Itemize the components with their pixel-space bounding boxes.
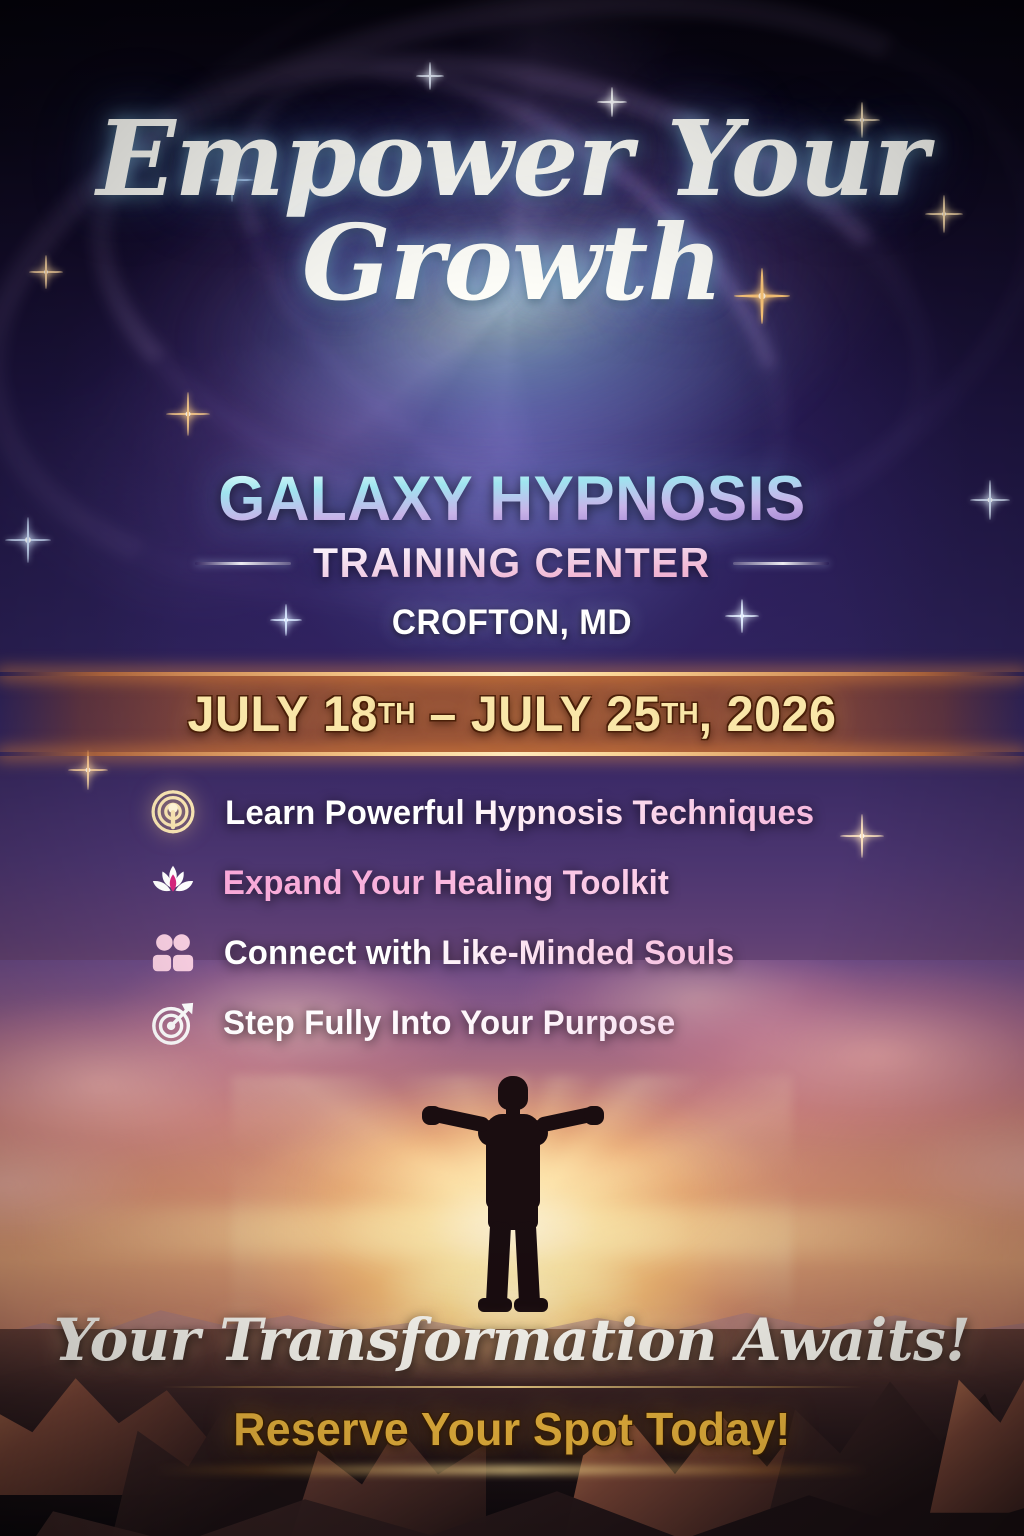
lotus-flower-icon bbox=[150, 860, 196, 906]
benefit-label: Expand Your Healing Toolkit bbox=[223, 864, 669, 903]
brand-subtitle-row: TRAINING CENTER bbox=[0, 539, 1024, 587]
date-year: 2026 bbox=[727, 685, 837, 743]
benefit-label: Step Fully Into Your Purpose bbox=[223, 1004, 675, 1043]
people-group-icon bbox=[150, 930, 196, 976]
headline-block: Empower Your Growth bbox=[0, 108, 1024, 314]
date-end-month: JULY bbox=[471, 685, 592, 743]
cta-divider-rule bbox=[162, 1386, 862, 1388]
date-banner: JULY 18TH – JULY 25TH, 2026 bbox=[0, 672, 1024, 756]
target-dart-icon bbox=[150, 1000, 196, 1046]
brand-name: GALAXY HYPNOSIS bbox=[218, 468, 805, 531]
brand-block: GALAXY HYPNOSIS TRAINING CENTER CROFTON,… bbox=[0, 468, 1024, 643]
cta-glow-bar bbox=[152, 1466, 872, 1474]
date-separator: – bbox=[429, 685, 456, 743]
cta-script-line: Your Transformation Awaits! bbox=[0, 1306, 1024, 1374]
brand-subtitle: TRAINING CENTER bbox=[313, 539, 711, 587]
decorative-dash-right bbox=[733, 562, 829, 565]
benefits-list: Learn Powerful Hypnosis Techniques bbox=[150, 778, 910, 1058]
poster-content: Empower Your Growth GALAXY HYPNOSIS TRAI… bbox=[0, 0, 1024, 1536]
decorative-dash-left bbox=[195, 562, 291, 565]
call-to-action-block: Your Transformation Awaits! Reserve Your… bbox=[0, 1306, 1024, 1474]
brand-location: CROFTON, MD bbox=[26, 603, 999, 643]
benefit-item: Step Fully Into Your Purpose bbox=[150, 988, 910, 1058]
date-end-day: 25 bbox=[606, 685, 661, 743]
headline-line-1: Empower Your bbox=[0, 108, 1024, 210]
benefit-label: Learn Powerful Hypnosis Techniques bbox=[225, 794, 814, 833]
date-start-suffix: TH bbox=[378, 698, 416, 731]
event-poster: Empower Your Growth GALAXY HYPNOSIS TRAI… bbox=[0, 0, 1024, 1536]
cta-action-line: Reserve Your Spot Today! bbox=[15, 1402, 1008, 1456]
date-end-suffix: TH bbox=[661, 698, 699, 731]
benefit-item: Expand Your Healing Toolkit bbox=[150, 848, 910, 918]
benefit-label: Connect with Like-Minded Souls bbox=[224, 934, 734, 973]
broadcast-waves-icon bbox=[150, 790, 196, 836]
event-dates: JULY 18TH – JULY 25TH, 2026 bbox=[15, 672, 1008, 756]
benefit-item: Connect with Like-Minded Souls bbox=[150, 918, 910, 988]
date-comma: , bbox=[699, 685, 713, 743]
benefit-item: Learn Powerful Hypnosis Techniques bbox=[150, 778, 910, 848]
date-start-day: 18 bbox=[323, 685, 378, 743]
date-start-month: JULY bbox=[188, 685, 309, 743]
headline-line-2: Growth bbox=[0, 212, 1024, 314]
